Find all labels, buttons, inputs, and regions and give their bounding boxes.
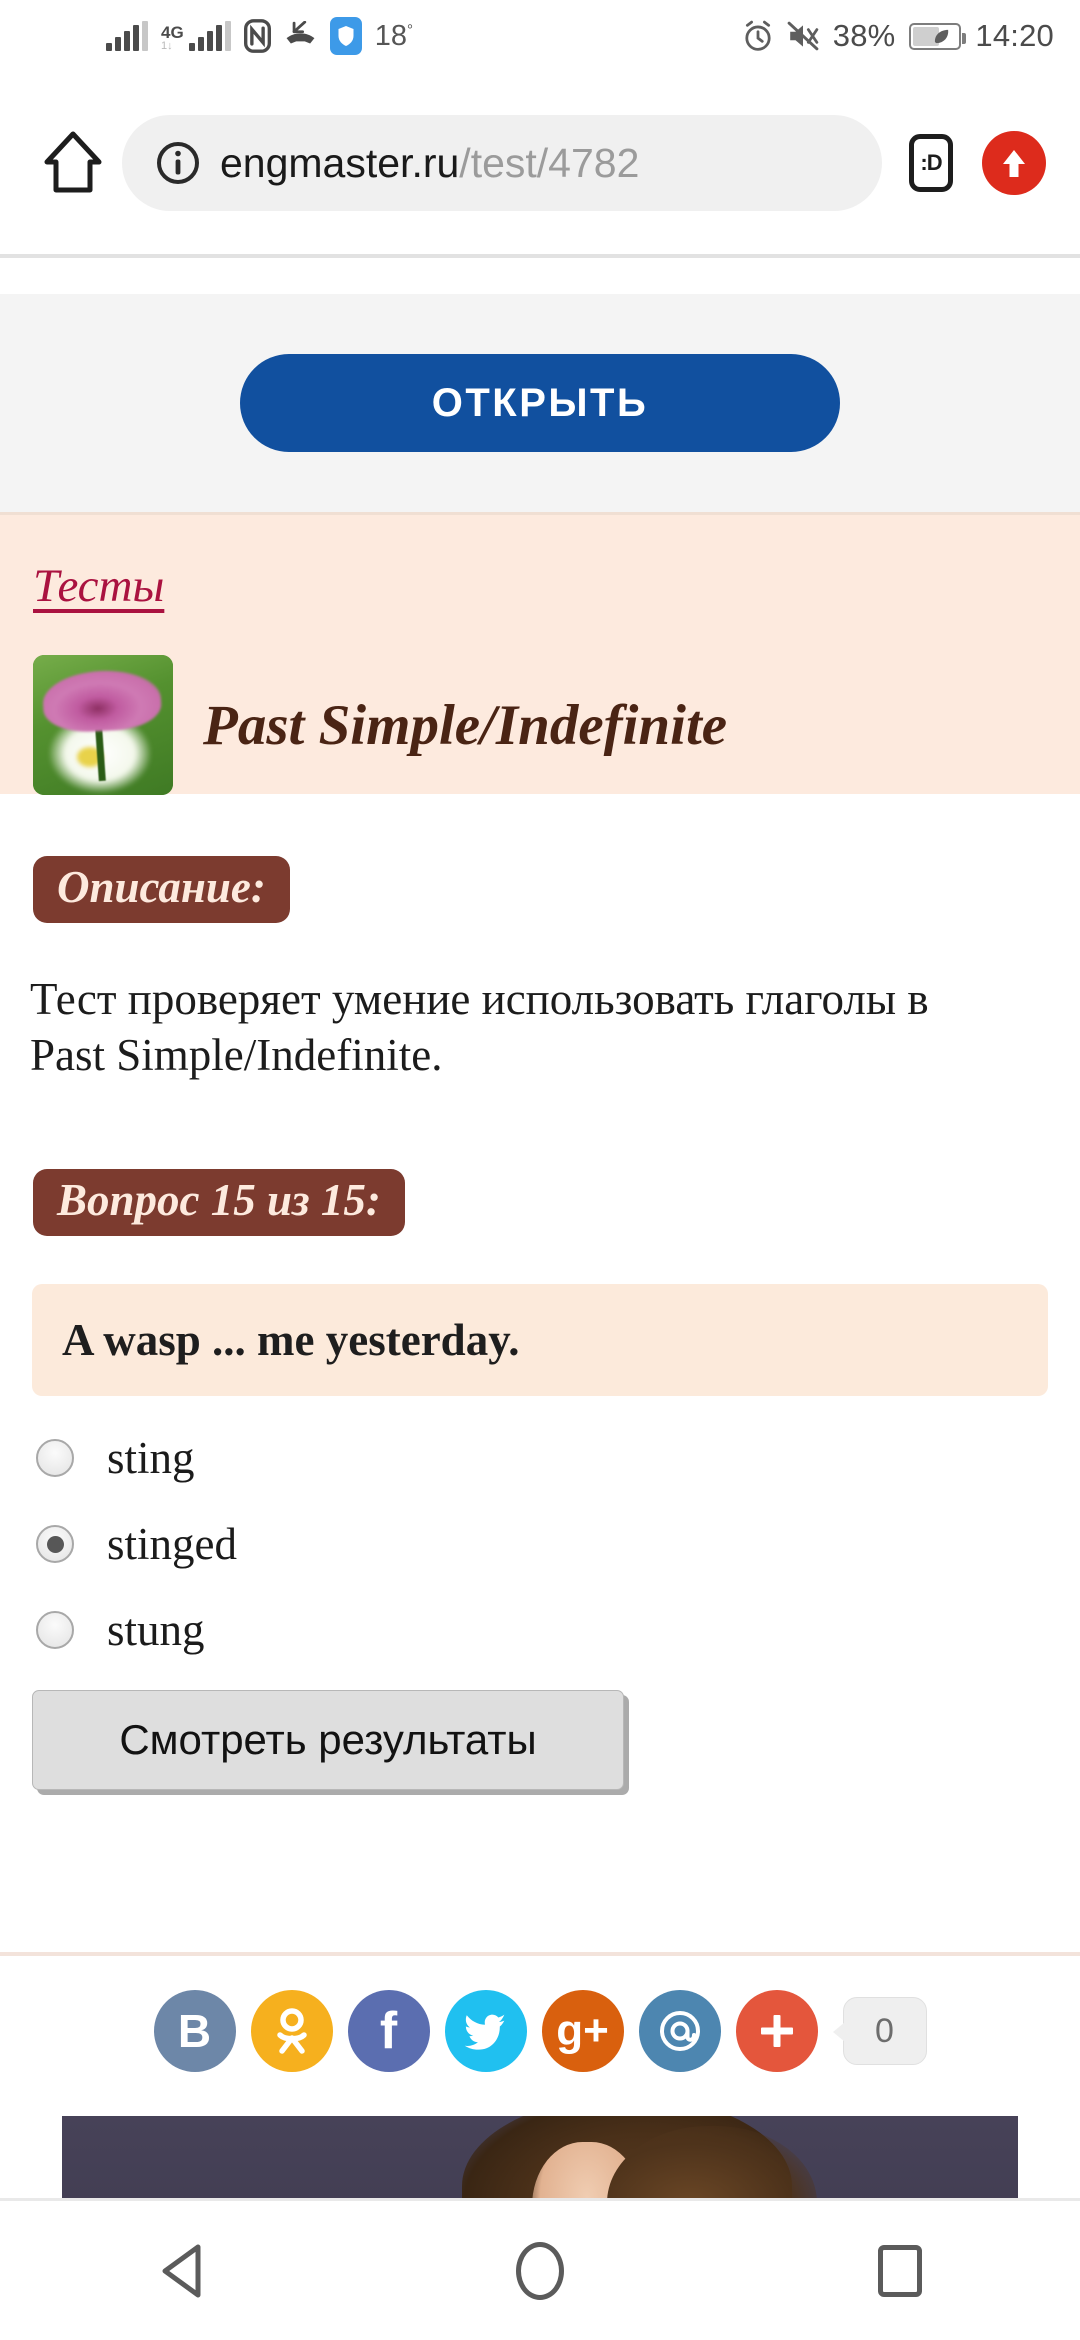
nav-back-button[interactable] bbox=[90, 2221, 270, 2321]
radio-button-1[interactable] bbox=[36, 1525, 74, 1563]
view-results-button[interactable]: Смотреть результаты bbox=[32, 1690, 624, 1790]
description-badge: Описание: bbox=[33, 856, 290, 923]
question-text: A wasp ... me yesterday. bbox=[62, 1314, 519, 1366]
info-circle-icon[interactable] bbox=[156, 141, 200, 185]
social-divider bbox=[0, 1952, 1080, 1956]
share-odnoklassniki-icon[interactable] bbox=[251, 1990, 333, 2072]
share-count-badge: 0 bbox=[843, 1997, 927, 2065]
mute-icon bbox=[787, 21, 819, 51]
nfc-icon bbox=[244, 19, 271, 53]
status-bar-right: 38% 14:20 bbox=[743, 18, 1054, 54]
title-row: Past Simple/Indefinite bbox=[33, 655, 727, 795]
nav-recents-button[interactable] bbox=[810, 2221, 990, 2321]
url-path: /test/4782 bbox=[459, 140, 639, 186]
status-bar-left: 4G 1↓ 18° bbox=[26, 17, 413, 55]
temperature-label: 18° bbox=[375, 20, 413, 53]
phone-screen: 4G 1↓ 18° bbox=[0, 0, 1080, 2340]
radio-button-2[interactable] bbox=[36, 1611, 74, 1649]
tab-count-label: :D bbox=[909, 134, 953, 192]
question-badge: Вопрос 15 из 15: bbox=[33, 1169, 405, 1236]
ad-spacer bbox=[0, 258, 1080, 294]
home-button[interactable] bbox=[30, 130, 116, 196]
page-title: Past Simple/Indefinite bbox=[203, 693, 727, 758]
share-facebook-icon[interactable]: f bbox=[348, 1990, 430, 2072]
home-icon bbox=[43, 130, 103, 196]
share-more-icon[interactable] bbox=[736, 1990, 818, 2072]
network-type-label: 4G bbox=[161, 25, 184, 40]
recents-square-icon bbox=[878, 2245, 922, 2297]
shield-icon bbox=[330, 17, 362, 55]
share-googleplus-icon[interactable]: g+ bbox=[542, 1990, 624, 2072]
back-triangle-icon bbox=[157, 2243, 203, 2299]
ad-banner[interactable]: ОТКРЫТЬ bbox=[0, 294, 1080, 512]
missed-call-icon bbox=[284, 21, 317, 51]
page-header: Тесты Past Simple/Indefinite bbox=[0, 512, 1080, 794]
clock-label: 14:20 bbox=[975, 18, 1054, 54]
status-bar: 4G 1↓ 18° bbox=[0, 0, 1080, 72]
share-vk-icon[interactable]: В bbox=[154, 1990, 236, 2072]
answer-options: sting stinged stung bbox=[32, 1424, 932, 1682]
upload-arrow-icon bbox=[997, 145, 1031, 181]
flower-thumbnail-image bbox=[33, 655, 173, 795]
description-text: Тест проверяет умение использовать глаго… bbox=[30, 971, 990, 1084]
option-label-0: sting bbox=[107, 1432, 195, 1484]
battery-percent-label: 38% bbox=[833, 18, 896, 54]
battery-saver-icon bbox=[909, 23, 961, 50]
question-card: A wasp ... me yesterday. bbox=[32, 1284, 1048, 1396]
breadcrumb-tests-link[interactable]: Тесты bbox=[33, 559, 164, 613]
share-twitter-icon[interactable] bbox=[445, 1990, 527, 2072]
option-row-1[interactable]: stinged bbox=[32, 1510, 932, 1578]
url-domain: engmaster.ru bbox=[220, 140, 459, 186]
url-bar[interactable]: engmaster.ru/test/4782 bbox=[122, 115, 882, 211]
open-button[interactable]: ОТКРЫТЬ bbox=[240, 354, 840, 452]
nav-home-button[interactable] bbox=[450, 2221, 630, 2321]
option-row-0[interactable]: sting bbox=[32, 1424, 932, 1492]
radio-button-0[interactable] bbox=[36, 1439, 74, 1477]
option-label-2: stung bbox=[107, 1604, 205, 1656]
upload-button[interactable] bbox=[982, 131, 1046, 195]
option-label-1: stinged bbox=[107, 1518, 237, 1570]
social-share-bar: В f g+ bbox=[0, 1990, 1080, 2072]
signal-bars-icon bbox=[106, 21, 148, 51]
alarm-clock-icon bbox=[743, 20, 773, 52]
browser-toolbar: engmaster.ru/test/4782 :D bbox=[0, 72, 1080, 254]
home-circle-icon bbox=[516, 2242, 564, 2300]
network-sub-label: 1↓ bbox=[161, 41, 173, 51]
tab-switcher-button[interactable]: :D bbox=[896, 128, 966, 198]
share-mailru-icon[interactable] bbox=[639, 1990, 721, 2072]
android-nav-bar bbox=[0, 2201, 1080, 2340]
option-row-2[interactable]: stung bbox=[32, 1596, 932, 1664]
url-text: engmaster.ru/test/4782 bbox=[220, 140, 639, 187]
4g-signal-icon: 4G 1↓ bbox=[161, 21, 231, 51]
